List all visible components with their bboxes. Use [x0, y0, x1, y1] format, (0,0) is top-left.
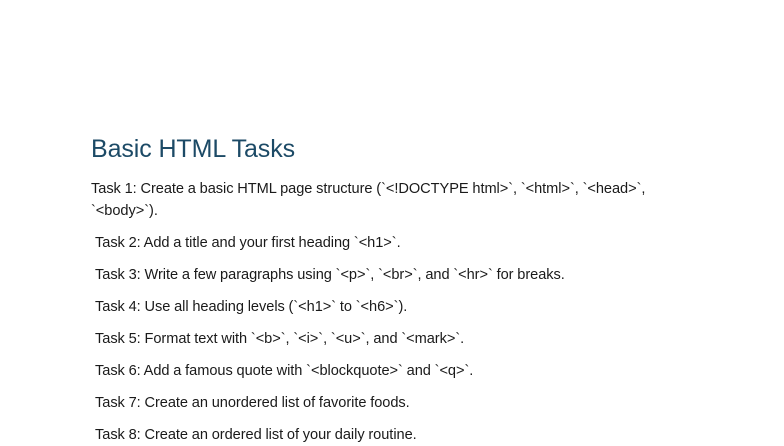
task-item-2: Task 2: Add a title and your first headi…	[91, 232, 691, 254]
task-item-6: Task 6: Add a famous quote with `<blockq…	[91, 360, 691, 382]
task-item-5: Task 5: Format text with `<b>`, `<i>`, `…	[91, 328, 691, 350]
task-item-7: Task 7: Create an unordered list of favo…	[91, 392, 691, 414]
task-item-4: Task 4: Use all heading levels (`<h1>` t…	[91, 296, 691, 318]
task-list: Task 1: Create a basic HTML page structu…	[91, 178, 691, 446]
document-content: Basic HTML Tasks Task 1: Create a basic …	[91, 134, 691, 446]
task-item-8: Task 8: Create an ordered list of your d…	[91, 424, 691, 446]
page-title: Basic HTML Tasks	[91, 134, 691, 164]
document-page: Basic HTML Tasks Task 1: Create a basic …	[0, 0, 784, 441]
task-item-1: Task 1: Create a basic HTML page structu…	[91, 178, 676, 222]
task-item-3: Task 3: Write a few paragraphs using `<p…	[91, 264, 691, 286]
